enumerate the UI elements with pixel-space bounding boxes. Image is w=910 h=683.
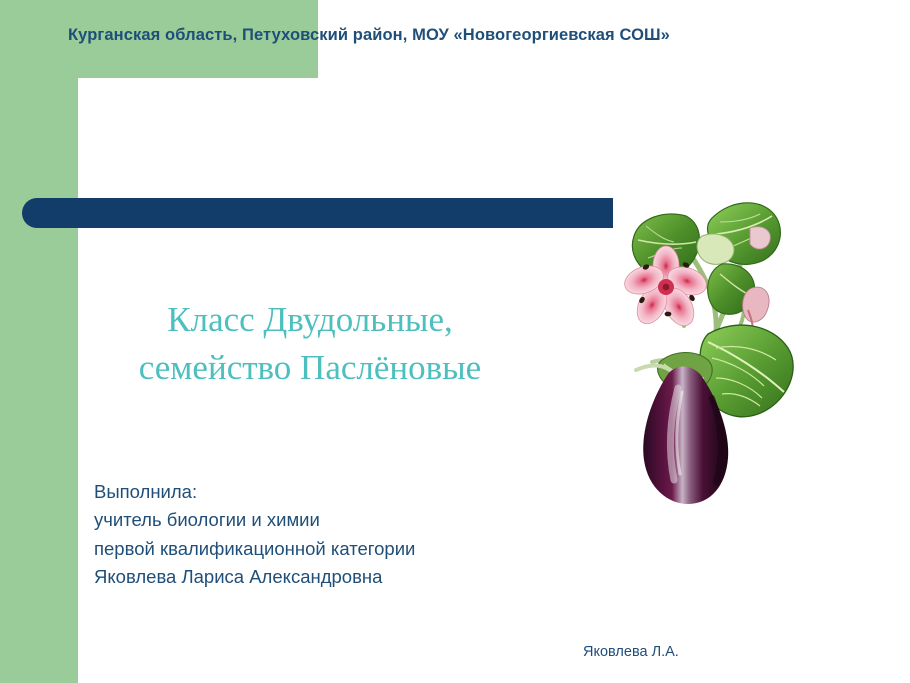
slide-footer: Яковлева Л.А. xyxy=(583,644,679,660)
flower-shape xyxy=(621,246,710,331)
navy-accent-bar xyxy=(22,198,613,228)
author-line-4: Яковлева Лариса Александровна xyxy=(94,563,415,591)
author-line-1: Выполнила: xyxy=(94,478,415,506)
author-line-3: первой квалификационной категории xyxy=(94,535,415,563)
author-line-2: учитель биологии и химии xyxy=(94,506,415,534)
presentation-slide: Курганская область, Петуховский район, М… xyxy=(0,0,910,683)
slide-title-line-2: семейство Паслёновые xyxy=(60,344,560,392)
slide-header: Курганская область, Петуховский район, М… xyxy=(68,26,868,45)
slide-title-line-1: Класс Двудольные, xyxy=(60,296,560,344)
eggplant-plant-icon xyxy=(612,192,798,508)
slide-title: Класс Двудольные, семейство Паслёновые xyxy=(60,296,560,393)
author-block: Выполнила: учитель биологии и химии перв… xyxy=(94,478,415,591)
